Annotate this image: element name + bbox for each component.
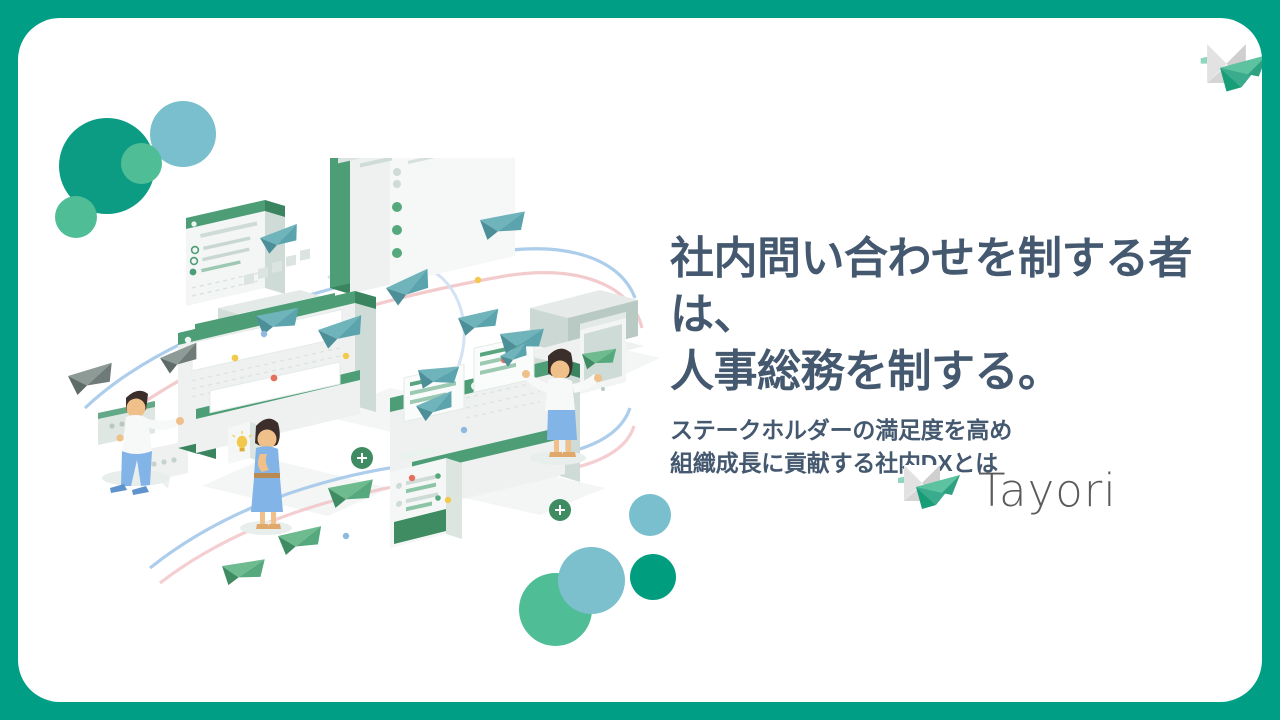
text-block: 社内問い合わせを制する者は、 人事総務を制する。 ステークホルダーの満足度を高め… bbox=[670, 231, 1262, 481]
tayori-wordmark: Tayori bbox=[978, 468, 1117, 513]
slide-card: 社内問い合わせを制する者は、 人事総務を制する。 ステークホルダーの満足度を高め… bbox=[18, 18, 1262, 702]
tayori-logo-lockup: Tayori bbox=[896, 461, 1117, 520]
illo-panel-checklist bbox=[186, 200, 285, 306]
slide-root: 社内問い合わせを制する者は、 人事総務を制する。 ステークホルダーの満足度を高め… bbox=[0, 0, 1280, 720]
page-title: 社内問い合わせを制する者は、 人事総務を制する。 bbox=[670, 231, 1262, 400]
illo-person-left bbox=[102, 391, 184, 495]
tayori-envelope-plane-logo-icon bbox=[896, 461, 962, 520]
tayori-mark-top-right bbox=[1196, 40, 1262, 103]
hero-illustration bbox=[60, 158, 670, 593]
